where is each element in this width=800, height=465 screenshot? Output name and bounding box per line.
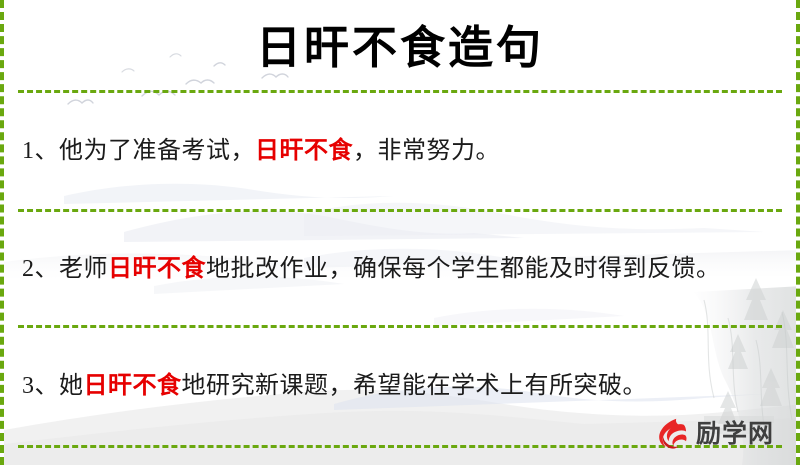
sentence-2-index: 2、 — [22, 256, 59, 282]
divider-1 — [18, 209, 782, 212]
divider-2 — [18, 325, 782, 328]
flame-swirl-icon — [653, 415, 689, 451]
sentence-3-before: 她 — [59, 373, 84, 399]
logo-text: 励学网 — [696, 421, 774, 446]
sentence-2-idiom: 日旰不食 — [108, 256, 206, 282]
sentence-3-after: 地研究新课题，希望能在学术上有所突破。 — [182, 373, 648, 399]
card-content: 日旰不食造句 1、他为了准备考试，日旰不食，非常努力。 2、老师日旰不食地批改作… — [4, 0, 796, 465]
site-logo: 励学网 — [653, 415, 774, 451]
idiom-example-card: 日旰不食造句 1、他为了准备考试，日旰不食，非常努力。 2、老师日旰不食地批改作… — [0, 0, 800, 465]
sentence-2-after: 地批改作业，确保每个学生都能及时得到反馈。 — [206, 256, 721, 282]
example-sentence-1: 1、他为了准备考试，日旰不食，非常努力。 — [18, 117, 782, 185]
sentence-1-after: ，非常努力。 — [353, 138, 500, 164]
example-sentence-3: 3、她日旰不食地研究新课题，希望能在学术上有所突破。 — [18, 352, 782, 421]
sentence-1-before: 他为了准备考试， — [59, 138, 255, 164]
sentence-1-idiom: 日旰不食 — [255, 138, 353, 164]
divider-top — [18, 90, 782, 93]
page-title: 日旰不食造句 — [18, 0, 782, 90]
sentence-3-idiom: 日旰不食 — [84, 373, 182, 399]
sentence-2-before: 老师 — [59, 256, 108, 282]
sentence-1-index: 1、 — [22, 138, 59, 164]
example-sentence-2: 2、老师日旰不食地批改作业，确保每个学生都能及时得到反馈。 — [18, 236, 782, 301]
sentence-3-index: 3、 — [22, 373, 59, 399]
